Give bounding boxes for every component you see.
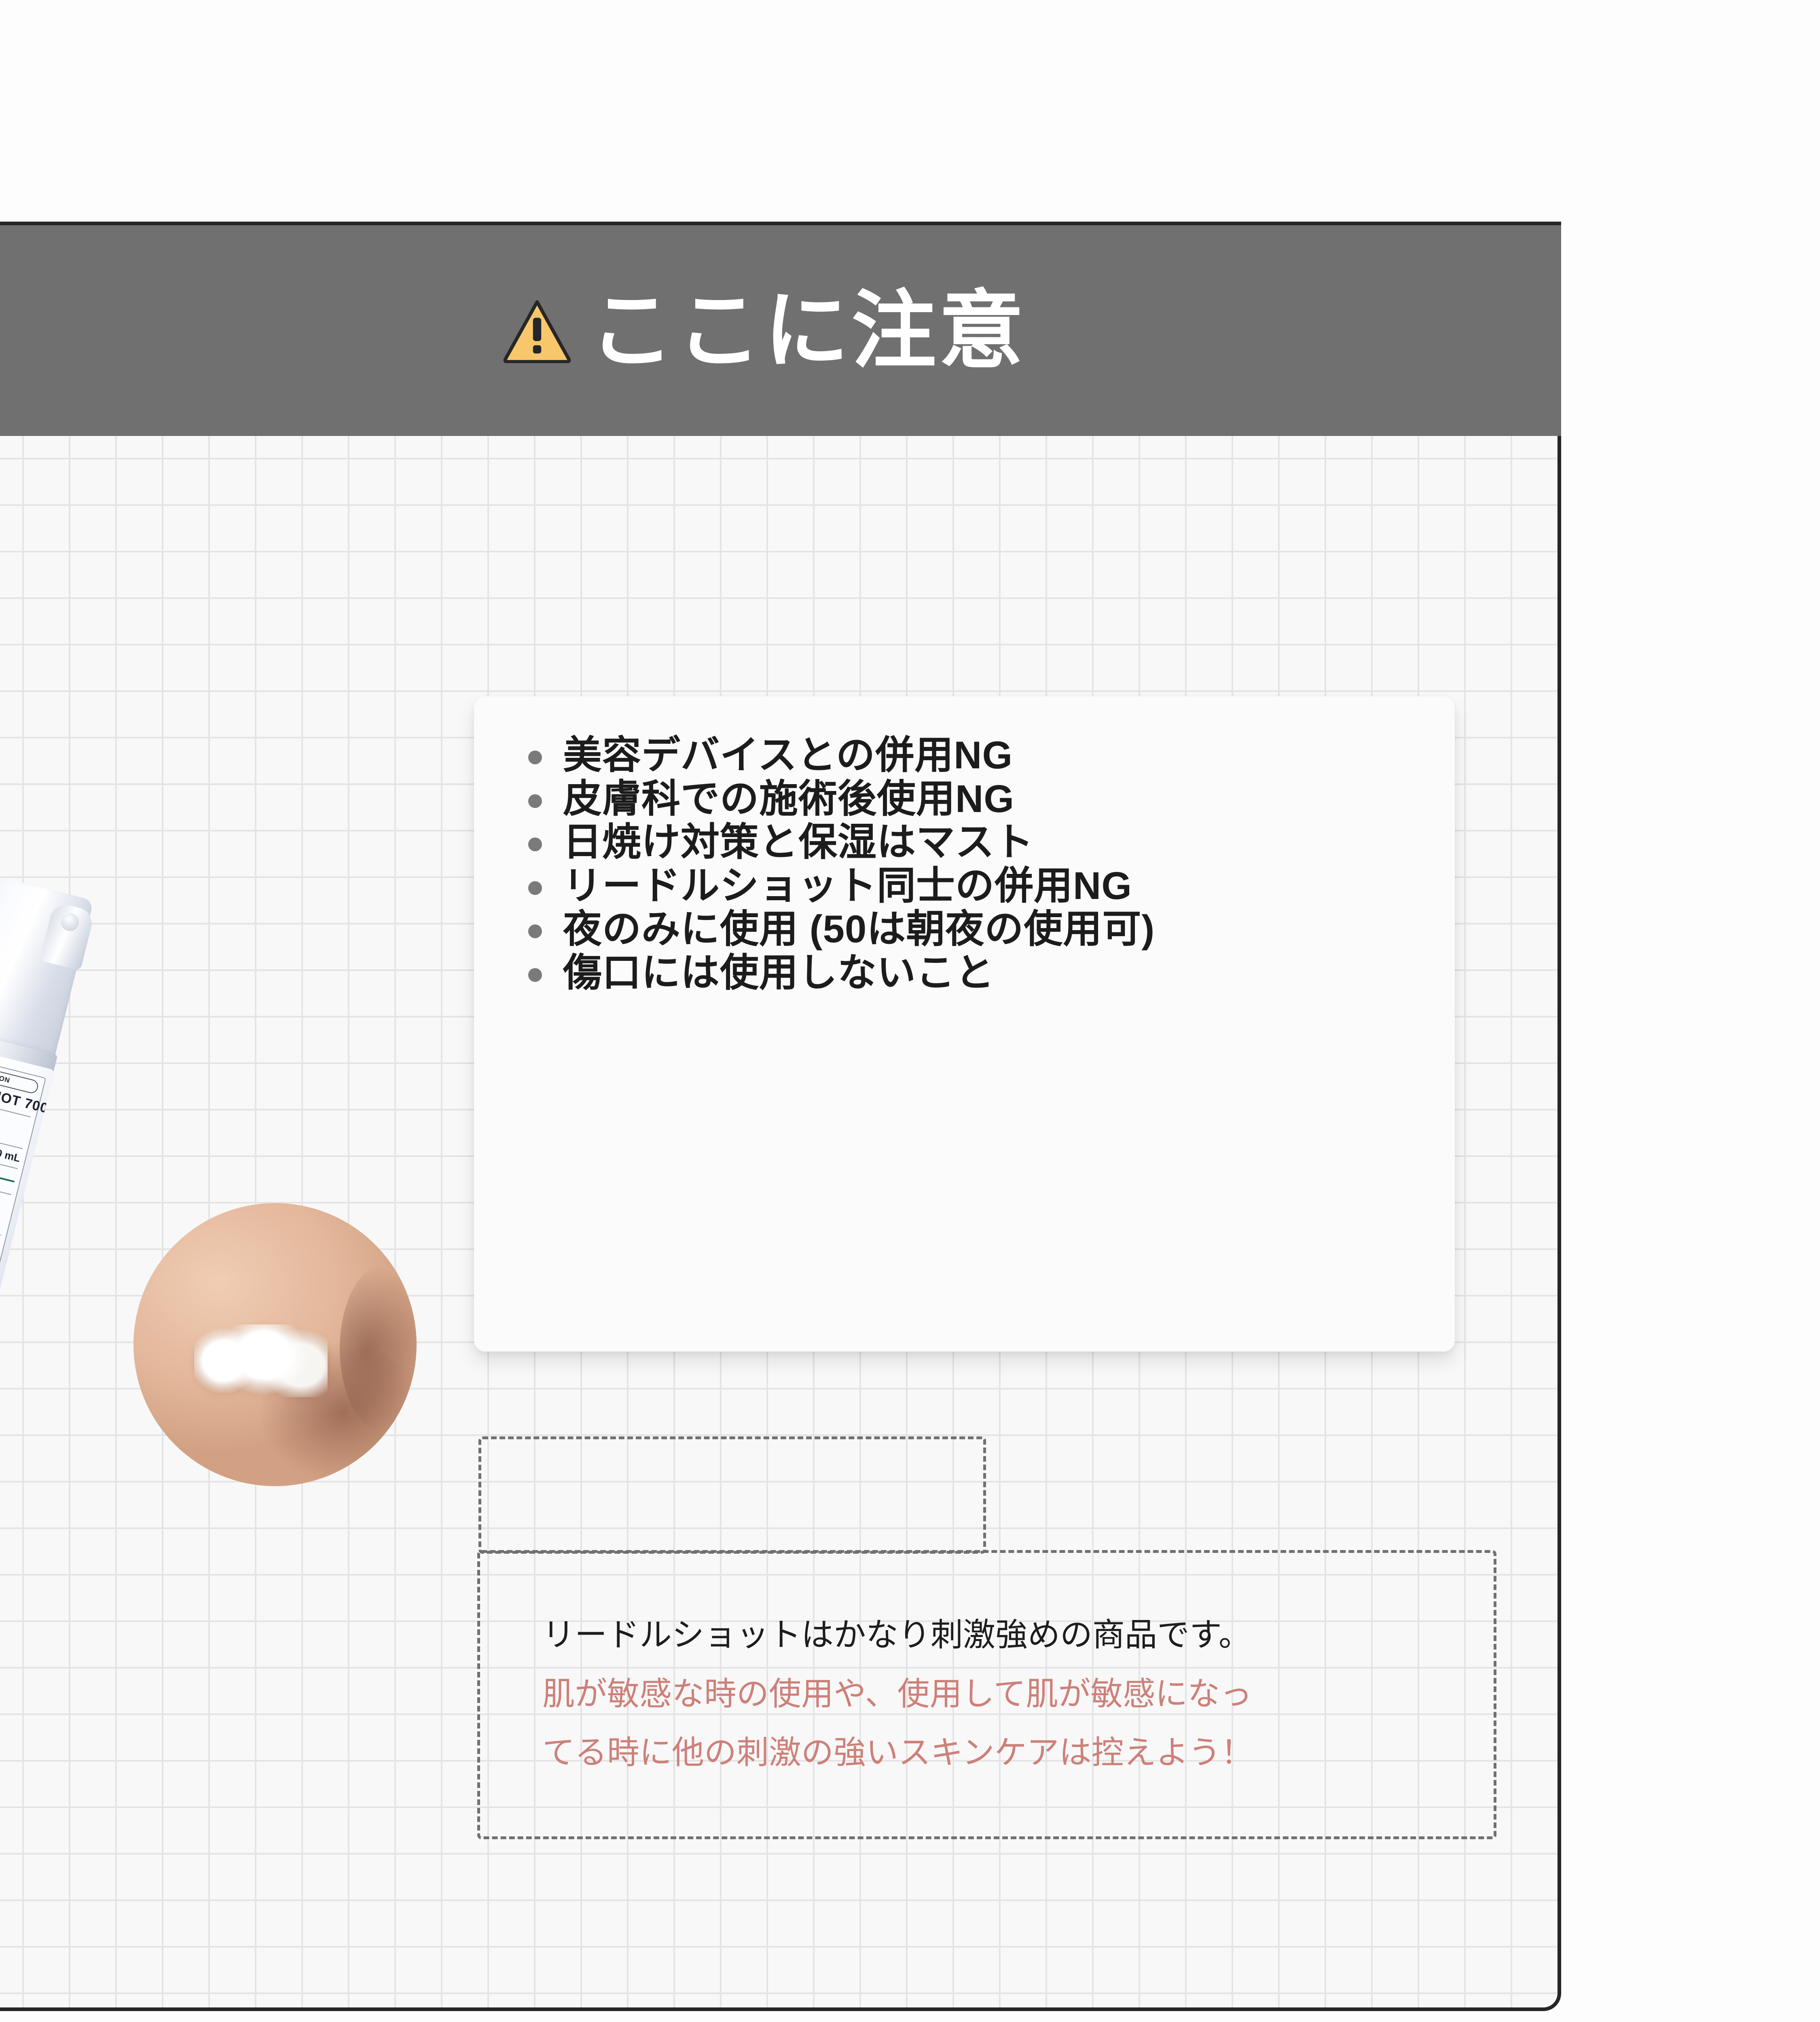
bullet-dot-icon <box>528 881 542 895</box>
list-item-body: 夜のみに使用 (50は朝夜の使用可) <box>563 907 1455 951</box>
list-item-label: 傷口には使用しないこと <box>563 951 995 994</box>
warning-triangle-icon <box>503 298 571 363</box>
list-item-label: 皮膚科での施術後使用NG <box>563 777 1014 821</box>
list-item: 傷口には使用しないこと <box>474 951 1455 995</box>
caution-list-card: 美容デバイスとの併用NG 皮膚科での施術後使用NG 日焼け対策と保湿はマスト <box>474 696 1455 1352</box>
list-item: 日焼け対策と保湿はマスト <box>474 821 1455 864</box>
cream-swatch <box>194 1324 328 1397</box>
list-item-label: リードルショット同士の併用NG <box>563 864 1132 907</box>
dashed-accent-frame <box>478 1436 986 1554</box>
poster-page: ここに注意 美容デバイスとの併用NG 皮膚科での施術後使用NG <box>0 0 1820 2022</box>
list-item-label: 日焼け対策と保湿はマスト <box>563 821 1034 864</box>
caution-header-bar: ここに注意 <box>0 222 1561 436</box>
header-inner: ここに注意 <box>503 288 1026 373</box>
list-item-body: 美容デバイスとの併用NG <box>563 734 1455 777</box>
list-item: 美容デバイスとの併用NG <box>474 734 1455 777</box>
cream-highlight <box>216 1344 289 1360</box>
list-item-body: リードルショット同士の併用NG <box>563 864 1455 908</box>
list-item: リードルショット同士の併用NG <box>474 864 1455 908</box>
list-item-body: 皮膚科での施術後使用NG <box>563 777 1455 821</box>
list-item: 皮膚科での施術後使用NG <box>474 777 1455 821</box>
list-item-label: 夜のみに使用 (50は朝夜の使用可) <box>563 907 1155 951</box>
caution-list: 美容デバイスとの併用NG 皮膚科での施術後使用NG 日焼け対策と保湿はマスト <box>474 734 1455 994</box>
skin-swatch-photo <box>133 1203 417 1486</box>
product-bottle: CICA × HYALON REEDLE SHOT 700 APPLICATIO… <box>0 868 94 1360</box>
product-label: CICA × HYALON REEDLE SHOT 700 APPLICATIO… <box>0 1047 46 1329</box>
list-item: 夜のみに使用 (50は朝夜の使用可) <box>474 907 1455 951</box>
note-line-3: てる時に他の刺激の強いスキンケアは控えよう！ <box>542 1723 1494 1782</box>
list-item-body: 傷口には使用しないこと <box>563 951 1455 995</box>
note-callout-box: リードルショットはかなり刺激強めの商品です。 肌が敏感な時の使用や、使用して肌が… <box>477 1550 1496 1839</box>
list-item-body: 日焼け対策と保湿はマスト <box>563 821 1455 864</box>
page-title: ここに注意 <box>589 288 1026 373</box>
bullet-dot-icon <box>528 924 542 938</box>
label-volume: 30 mL <box>0 1145 22 1165</box>
list-item-label: 美容デバイスとの併用NG <box>563 734 1013 777</box>
note-line-2: 肌が敏感な時の使用や、使用して肌が敏感になっ <box>542 1665 1494 1724</box>
bullet-dot-icon <box>528 751 542 764</box>
skin-shadow <box>340 1264 417 1434</box>
note-line-1: リードルショットはかなり刺激強めの商品です。 <box>542 1605 1494 1665</box>
bullet-dot-icon <box>528 794 542 808</box>
bullet-dot-icon <box>528 968 542 982</box>
bullet-dot-icon <box>528 838 542 851</box>
bottle-body: CICA × HYALON REEDLE SHOT 700 APPLICATIO… <box>0 1036 55 1360</box>
